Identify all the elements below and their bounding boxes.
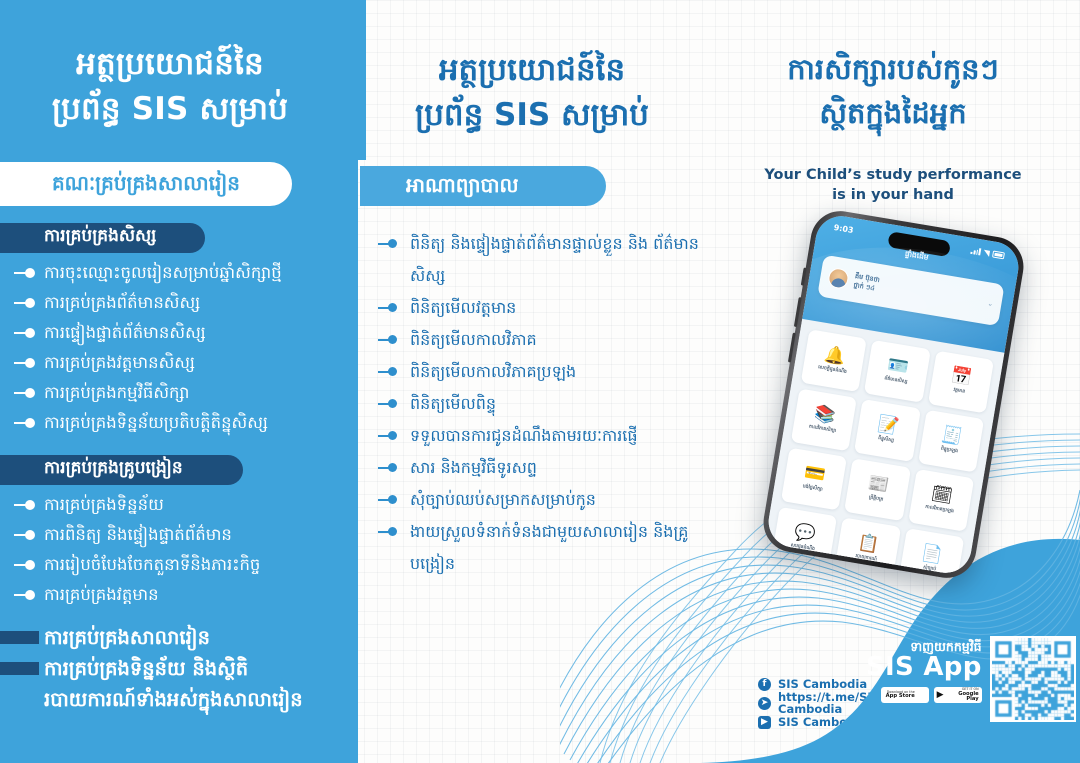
highlight-label-continuation: របាយការណ៍ទាំងអស់ក្នុងសាលារៀន (0, 684, 358, 715)
list-item: ការគ្រប់គ្រងកម្មវិធីសិក្សា (0, 378, 358, 408)
app-tile[interactable]: 📚 កាលវិភាគសិក្សា (791, 388, 857, 451)
chat-icon: 💬 (793, 524, 817, 544)
app-tile-label: ព្រឹត្តិបត្រ (868, 496, 883, 504)
app-download-texts: ទាញយកកម្មវិធី SIS App Download on the Ap… (866, 636, 982, 703)
list-item-label: ការរៀបចំបែងចែកតួនាទីនិងភារះកិច្ច (44, 550, 260, 580)
document-search-icon: 📝 (876, 416, 900, 436)
scores-icon: 🧾 (940, 427, 964, 447)
pin-bullet-icon (0, 378, 44, 408)
news-icon: 📰 (866, 475, 890, 495)
badge-text: GET IT ON Google Play (946, 688, 979, 702)
section-tab-label: ការគ្រប់គ្រងសិស្ស (44, 228, 156, 248)
highlight-label: ការគ្រប់គ្រងសាលារៀន (44, 622, 210, 653)
left-benefits-panel: អត្ថប្រយោជន៍នៃ ប្រព័ន្ធ SIS សម្រាប់ គណៈគ… (0, 0, 358, 763)
list-item: ការគ្រប់គ្រងវត្តមានសិស្ស (0, 348, 358, 378)
list-item-label: ពិនិត្យមើលកាលវិភាគ (410, 324, 537, 356)
list-item-label: ការគ្រប់គ្រងវត្តមានសិស្ស (44, 348, 195, 378)
list-item-label: ការគ្រប់គ្រងព័ត៌មានសិស្ស (44, 288, 200, 318)
section-tab-teacher-management: ការគ្រប់គ្រងគ្រូបង្រៀន (0, 455, 243, 485)
list-item-label: ការគ្រប់គ្រងទិន្នន័យប្រតិបត្តិតិន្នុសិស្… (44, 408, 268, 438)
list-item: ការផ្ទៀងផ្ទាត់ព័ត៌មានសិស្ស (0, 318, 358, 348)
pin-bullet-icon (366, 324, 410, 356)
section-tab-student-management: ការគ្រប់គ្រងសិស្ស (0, 223, 205, 253)
exam-calendar-icon: 🗓 (930, 486, 954, 506)
student-management-list: ការចុះឈ្មោះចូលរៀនសម្រាប់ឆ្នាំសិក្សាថ្មី … (0, 258, 358, 438)
left-title-line-2: ប្រព័ន្ធ SIS សម្រាប់ (0, 87, 340, 132)
pin-bullet-icon (366, 388, 410, 420)
battery-icon (992, 251, 1005, 259)
highlight-label: ការគ្រប់គ្រងទិន្នន័យ និងស្ថិតិ (44, 653, 248, 684)
bell-icon: 🔔 (823, 346, 847, 366)
list-item: ការគ្រប់គ្រងទិន្នន័យប្រតិបត្តិតិន្នុសិស្… (0, 408, 358, 438)
right-panel-subtitle: Your Child’s study performance is in you… (736, 166, 1050, 205)
list-item-label: ពិនិត្យមើលពិន្ទុ (410, 388, 496, 420)
profile-class: ថ្នាក់ ៗ៤ (853, 281, 879, 294)
google-play-triangle-icon: ▶ (937, 691, 944, 700)
left-title-line-1: អត្ថប្រយោជន៍នៃ (0, 42, 340, 87)
pin-bullet-icon (366, 516, 410, 548)
middle-title-line-1: អត្ថប្រយោជន៍នៃ (366, 48, 698, 93)
list-item-label: ការគ្រប់គ្រងកម្មវិធីសិក្សា (44, 378, 189, 408)
section-tab-label: ការគ្រប់គ្រងគ្រូបង្រៀន (44, 460, 183, 480)
list-item-label: ការពិនិត្យ និងផ្ទៀងផ្ទាត់ព័ត៌មាន (44, 520, 232, 550)
list-item: ការចុះឈ្មោះចូលរៀនសម្រាប់ឆ្នាំសិក្សាថ្មី (0, 258, 358, 288)
pin-bullet-icon (366, 484, 410, 516)
pin-bullet-icon (366, 356, 410, 388)
store-badges: Download on the App Store ▶ GET IT ON Go… (866, 687, 982, 703)
middle-pill-label: អាណាព្យាបាល (360, 175, 519, 198)
highlight-row: ការគ្រប់គ្រងសាលារៀន (0, 622, 358, 653)
student-profile-selector[interactable]: គឹម ប៊ុនថា ថ្នាក់ ៗ៤ ⌄ (817, 255, 1004, 327)
list-item-label: ពិនិត្យ និងផ្ទៀងផ្ទាត់ព័ត៌មានផ្ទាល់ខ្លួន… (410, 228, 700, 292)
list-item-label: ពិនិត្យមើលវត្តមាន (410, 292, 516, 324)
left-panel-audience-pill: គណៈគ្រប់គ្រងសាលារៀន (0, 162, 292, 206)
badge-line-2: Google Play (946, 692, 979, 703)
middle-panel-title: អត្ថប្រយោជន៍នៃ ប្រព័ន្ធ SIS សម្រាប់ (366, 48, 698, 138)
calendar-icon: 📅 (950, 367, 974, 387)
left-panel-title: អត្ថប្រយោជន៍នៃ ប្រព័ន្ធ SIS សម្រាប់ (0, 42, 340, 132)
app-tile-label: បង់ថ្លៃសិក្សា (802, 484, 823, 493)
app-tile-label: ពិន្ទុប្រឡង (940, 447, 958, 455)
list-item: ពិនិត្យមើលកាលវិភាគ (366, 324, 706, 356)
pin-bullet-icon (0, 408, 44, 438)
list-item: ការរៀបចំបែងចែកតួនាទីនិងភារះកិច្ច (0, 550, 358, 580)
app-tile[interactable]: 📰 ព្រឹត្តិបត្រ (844, 458, 910, 521)
chevron-down-icon[interactable]: ⌄ (987, 299, 994, 308)
app-tile[interactable]: 📝 ពិន្ទុសិស្ស (854, 399, 920, 462)
sis-app-qr-code[interactable] (990, 636, 1076, 722)
payment-icon: 💳 (803, 465, 827, 485)
app-tile[interactable]: 📅 វត្តមាន (928, 350, 994, 413)
list-item-label: ការគ្រប់គ្រងទិន្នន័យ (44, 490, 164, 520)
bar-marker-icon (0, 653, 44, 675)
profile-text: គឹម ប៊ុនថា ថ្នាក់ ៗ៤ (853, 272, 881, 293)
list-item-label: ការផ្ទៀងផ្ទាត់ព័ត៌មានសិស្ស (44, 318, 206, 348)
subtitle-line-1: Your Child’s study performance (736, 166, 1050, 186)
app-tile-label: សុំច្បាប់ (923, 565, 937, 573)
list-item: ការពិនិត្យ និងផ្ទៀងផ្ទាត់ព័ត៌មាន (0, 520, 358, 550)
list-item-label: ពិនិត្យមើលកាលវិភាគប្រឡង (410, 356, 576, 388)
pin-bullet-icon (0, 550, 44, 580)
leave-request-icon: 📄 (920, 545, 944, 565)
pin-bullet-icon (0, 288, 44, 318)
list-item: ពិនិត្យ និងផ្ទៀងផ្ទាត់ព័ត៌មានផ្ទាល់ខ្លួន… (366, 228, 706, 292)
list-item: ការគ្រប់គ្រងព័ត៌មានសិស្ស (0, 288, 358, 318)
app-tile[interactable]: 💳 បង់ថ្លៃសិក្សា (781, 448, 847, 511)
report-icon: 📋 (857, 534, 881, 554)
pin-bullet-icon (366, 452, 410, 484)
app-store-badge[interactable]: Download on the App Store (881, 687, 929, 703)
pin-bullet-icon (0, 520, 44, 550)
subtitle-line-2: is in your hand (736, 186, 1050, 206)
books-icon: 📚 (813, 405, 837, 425)
qr-canvas (992, 638, 1074, 720)
app-name: SIS App (866, 654, 982, 681)
middle-title-line-2: ប្រព័ន្ធ SIS សម្រាប់ (366, 93, 698, 138)
list-item-label: សារ និងកម្មវិធីទូរសព្ទ (410, 452, 537, 484)
list-item-label: ការគ្រប់គ្រងវត្តមាន (44, 580, 159, 610)
teacher-management-list: ការគ្រប់គ្រងទិន្នន័យ ការពិនិត្យ និងផ្ទៀង… (0, 490, 358, 610)
list-item: ការគ្រប់គ្រងវត្តមាន (0, 580, 358, 610)
pin-bullet-icon (366, 292, 410, 324)
right-title-line-2: ស្ថិតក្នុងដៃអ្នក (706, 92, 1080, 136)
app-tile[interactable]: 🗓 កាលវិភាគប្រឡង (908, 469, 974, 532)
app-tile[interactable]: 🪪 ព័ត៌មានសិស្ស (864, 340, 930, 403)
app-download-promo: ទាញយកកម្មវិធី SIS App Download on the Ap… (866, 636, 1076, 722)
avatar (827, 267, 850, 290)
left-pill-label: គណៈគ្រប់គ្រងសាលារៀន (52, 173, 240, 196)
pin-bullet-icon (0, 318, 44, 348)
app-tile[interactable]: 📄 សុំច្បាប់ (898, 528, 964, 577)
status-icons: ◥ (971, 246, 1006, 260)
profile-name: គឹម ប៊ុនថា (854, 272, 880, 285)
app-tile-label: ព័ត៌មានសិស្ស (884, 376, 908, 385)
pin-bullet-icon (0, 258, 44, 288)
app-feature-grid: 🔔 សេចក្តីជូនដំណឹង 🪪 ព័ត៌មានសិស្ស 📅 វត្តម… (765, 319, 1005, 577)
list-item-label: ការចុះឈ្មោះចូលរៀនសម្រាប់ឆ្នាំសិក្សាថ្មី (44, 258, 282, 288)
pin-bullet-icon (0, 580, 44, 610)
badge-text: Download on the App Store (886, 691, 915, 700)
wifi-icon: ◥ (983, 248, 991, 258)
app-tile-label: របាយការណ៍ (855, 554, 877, 563)
app-tile-label: ពិន្ទុសិស្ស (877, 436, 894, 444)
bar-marker-icon (0, 622, 44, 644)
app-tile-label: សារជូនដំណឹង (790, 543, 815, 553)
badge-line-2: App Store (886, 694, 915, 699)
app-tile[interactable]: 🔔 សេចក្តីជូនដំណឹង (801, 329, 867, 392)
left-panel-bottom-highlights: ការគ្រប់គ្រងសាលារៀន ការគ្រប់គ្រងទិន្នន័យ… (0, 622, 358, 715)
list-item: ពិនិត្យមើលពិន្ទុ (366, 388, 706, 420)
app-tile-label: វត្តមាន (953, 388, 965, 396)
pin-bullet-icon (366, 228, 410, 260)
list-item: ការគ្រប់គ្រងទិន្នន័យ (0, 490, 358, 520)
pin-bullet-icon (366, 420, 410, 452)
middle-panel-audience-pill: អាណាព្យាបាល (360, 166, 606, 206)
app-tile[interactable]: 🧾 ពិន្ទុប្រឡង (918, 410, 984, 473)
pin-bullet-icon (0, 348, 44, 378)
status-time: 9:03 (833, 223, 854, 235)
right-title-line-1: ការសិក្សារបស់កូនៗ (706, 48, 1080, 92)
highlight-row: ការគ្រប់គ្រងទិន្នន័យ និងស្ថិតិ (0, 653, 358, 684)
google-play-badge[interactable]: ▶ GET IT ON Google Play (934, 687, 982, 703)
id-card-icon: 🪪 (886, 357, 910, 377)
cellular-signal-icon (971, 247, 981, 255)
right-panel-title: ការសិក្សារបស់កូនៗ ស្ថិតក្នុងដៃអ្នក (706, 48, 1080, 135)
list-item: ពិនិត្យមើលវត្តមាន (366, 292, 706, 324)
list-item: ពិនិត្យមើលកាលវិភាគប្រឡង (366, 356, 706, 388)
pin-bullet-icon (0, 490, 44, 520)
